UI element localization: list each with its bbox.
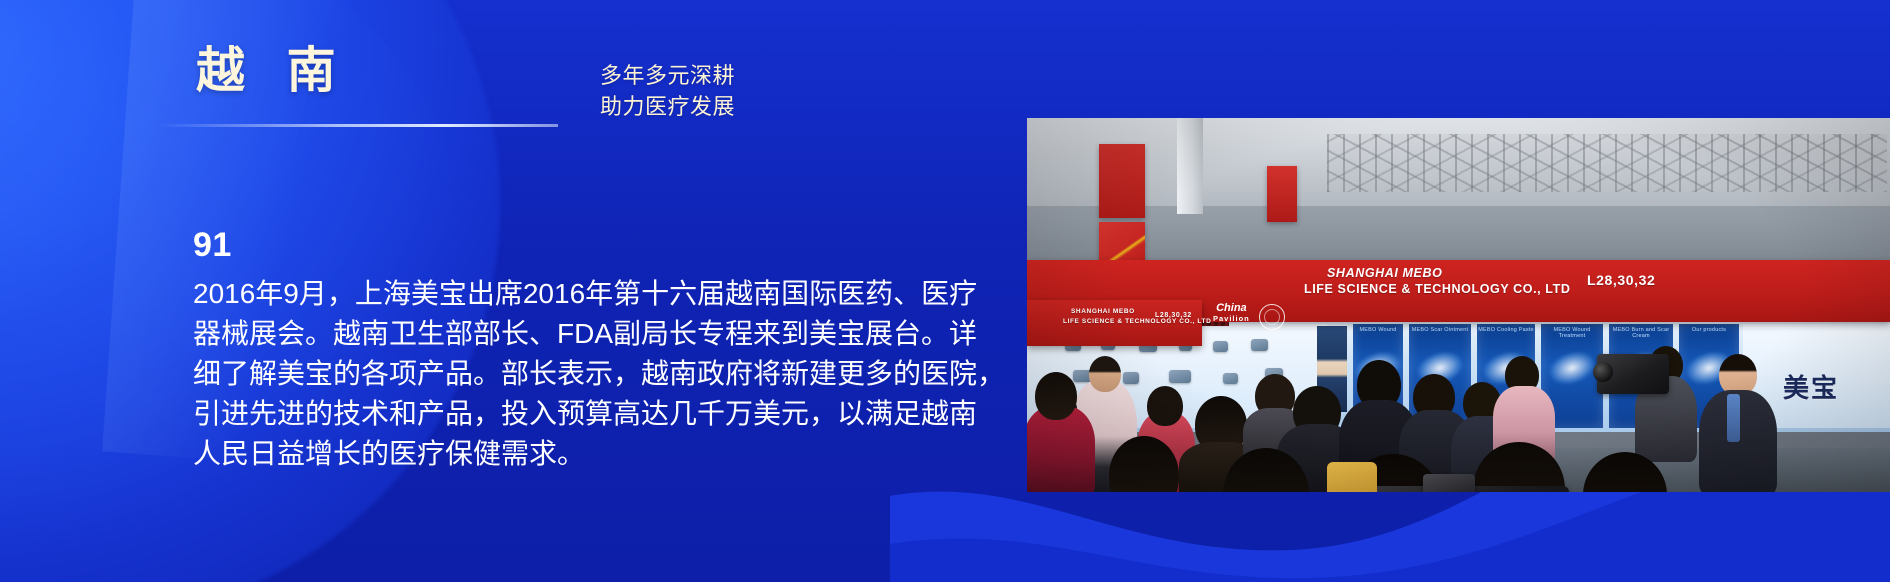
photo-product-item [1123,372,1139,384]
title-underline-rule [158,124,558,127]
photo-person-head [1035,372,1077,420]
photo-camera-operator-hand [1327,462,1377,492]
paragraph-line: 人民日益增长的医疗保健需求。 [193,434,1113,474]
body-paragraph: 2016年9月，上海美宝出席2016年第十六届越南国际医药、医疗 器械展会。越南… [193,274,1113,474]
title-block: 越 南 [196,46,616,97]
photo-wall-panel-label: MEBO Wound [1353,327,1403,333]
subtitle-line-2: 助力医疗发展 [600,91,735,122]
photo-product-item [1169,370,1191,383]
photo-right-region [1410,118,1890,492]
photo-person-head [1089,356,1121,392]
photo-china-pavilion-name: China [1216,302,1247,314]
photo-person-head [1147,386,1183,426]
slide-canvas: 越 南 多年多元深耕 助力医疗发展 91 2016年9月，上海美宝出席2016年… [0,0,1890,582]
photo-side-banner-company-line1: SHANGHAI MEBO [1071,308,1135,315]
photo-china-pavilion-label: China Pavilion [1213,302,1250,323]
photo-china-pavilion-sub: Pavilion [1213,315,1250,324]
subtitle-block: 多年多元深耕 助力医疗发展 [600,60,735,122]
photo-hanging-sign-2 [1267,166,1297,222]
item-number: 91 [193,228,1113,262]
photo-pillar [1177,118,1203,214]
subtitle-line-1: 多年多元深耕 [600,60,735,91]
photo-side-banner-booth-code: L28,30,32 [1155,312,1192,319]
paragraph-line: 2016年9月，上海美宝出席2016年第十六届越南国际医药、医疗 [193,274,1113,314]
photo-hanging-sign-1 [1099,144,1145,218]
photo-product-item [1213,341,1228,352]
paragraph-line: 器械展会。越南卫生部部长、FDA副局长专程来到美宝展台。详 [193,314,1113,354]
photo-side-banner-company-line2: LIFE SCIENCE & TECHNOLOGY CO., LTD [1063,318,1211,325]
photo-pavilion-seal-icon [1259,304,1285,330]
photo-product-item [1251,339,1268,351]
paragraph-line: 引进先进的技术和产品，投入预算高达几千万美元，以满足越南 [193,394,1113,434]
content-block: 91 2016年9月，上海美宝出席2016年第十六届越南国际医药、医疗 器械展会… [193,228,1113,474]
paragraph-line: 细了解美宝的各项产品。部长表示，越南政府将新建更多的医院， [193,354,1113,394]
page-title: 越 南 [196,46,616,97]
photo-product-item [1223,373,1238,384]
